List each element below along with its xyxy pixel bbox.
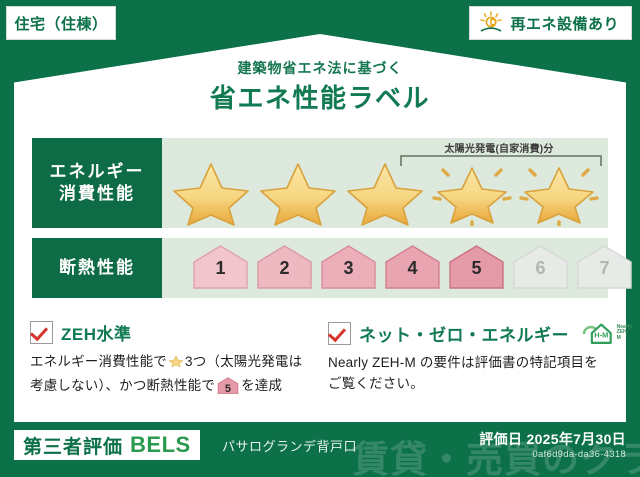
bels-badge: 第三者評価 BELS [14,430,200,460]
grade-house-icon-empty: 7 [576,244,633,292]
evaluation-id: 0af6d9da-da36-4318 [532,449,626,460]
renewable-equipment-label: 再エネ設備あり [510,13,619,34]
grade-house-icon: 1 [192,244,249,292]
grade-house-icon-inline: 5 [217,377,239,395]
zeh-body-part1: エネルギー消費性能で [30,354,167,369]
grade-house-number: 5 [448,258,505,279]
grade-house-number: 2 [256,258,313,279]
net-zero-energy-header: ネット・ゼロ・エネルギー H-M Nearly ZEH-M [328,320,608,346]
zeh-m-logo-caption: Nearly ZEH-M [617,325,633,341]
grade-house-number-inline: 5 [217,381,239,398]
star-icon-solar [429,160,515,226]
insulation-label-line1: 断熱性能 [59,257,135,279]
evaluation-date-value: 2025年7月30日 [526,431,626,447]
energy-label-line2: 消費性能 [59,183,135,205]
evaluation-date: 評価日 2025年7月30日 [479,429,626,449]
star-icon-solar [516,160,602,226]
bels-logo-text: BELS [130,432,191,458]
zeh-standard-body: エネルギー消費性能で 3つ（太陽光発電は考慮しない）、かつ断熱性能で 5 を達成 [30,352,310,397]
zeh-m-logo: H-M Nearly ZEH-M [581,320,632,346]
label-footer: 第三者評価 BELS パサログランデ背戸口 評価日 2025年7月30日 0af… [0,424,640,477]
insulation-performance-label: 断熱性能 [32,238,162,298]
sun-icon [478,11,504,35]
star-icon-inline [168,353,184,376]
energy-performance-stars-area: 太陽光発電(自家消費)分 [162,138,608,228]
zeh-standard-title: ZEH水準 [61,320,132,345]
net-zero-energy-statement: ネット・ゼロ・エネルギー H-M Nearly ZEH-M Nearly ZEH… [328,320,608,395]
svg-text:H-M: H-M [594,330,608,339]
grade-house-number: 6 [512,258,569,279]
energy-performance-row: エネルギー 消費性能 太陽光発電(自家消費)分 [32,138,608,228]
insulation-grade-area: 1 2 3 4 5 [162,238,608,298]
zeh-standard-header: ZEH水準 [30,320,310,345]
grade-house-icon-empty: 6 [512,244,569,292]
grade-house-icon: 3 [320,244,377,292]
net-zero-energy-title: ネット・ゼロ・エネルギー [359,321,569,346]
title-subtitle: 建築物省エネ法に基づく [0,58,640,78]
grade-house-number: 4 [384,258,441,279]
grade-house-number: 7 [576,258,633,279]
zeh-body-part3: を達成 [241,378,282,393]
evaluation-date-label: 評価日 [479,431,522,447]
insulation-grade-scale: 1 2 3 4 5 [192,244,633,292]
building-name: パサログランデ背戸口 [222,436,357,455]
grade-house-icon-current: 5 [448,244,505,292]
star-rating [168,160,602,226]
house-type-badge: 住宅（住棟） [6,6,116,40]
energy-label-line1: エネルギー [50,161,145,183]
energy-performance-label: エネルギー 消費性能 [32,138,162,228]
grade-house-icon: 2 [256,244,313,292]
zeh-standard-statement: ZEH水準 エネルギー消費性能で 3つ（太陽光発電は考慮しない）、かつ断熱性能で… [30,320,310,397]
house-type-label: 住宅（住棟） [14,13,107,34]
energy-label-card: 賃貸・売買のクラスモ 住宅（住棟） 再エネ設備あり 建築物省エネ法に基づく [0,0,640,477]
check-icon [328,322,351,345]
renewable-equipment-badge: 再エネ設備あり [469,6,632,40]
solar-annotation-label: 太陽光発電(自家消費)分 [394,140,604,155]
page-title: 省エネ性能ラベル [0,78,640,115]
bels-japanese-label: 第三者評価 [23,432,123,459]
grade-house-number: 3 [320,258,377,279]
check-icon [30,321,53,344]
star-icon [168,160,254,226]
star-icon [255,160,341,226]
insulation-performance-row: 断熱性能 1 2 3 4 [32,238,608,298]
grade-house-icon: 4 [384,244,441,292]
net-zero-energy-body: Nearly ZEH-M の要件は評価書の特記項目をご覧ください。 [328,353,608,395]
grade-house-number: 1 [192,258,249,279]
zeh-m-caption-line2: ZEH-M [617,330,633,341]
star-icon [342,160,428,226]
